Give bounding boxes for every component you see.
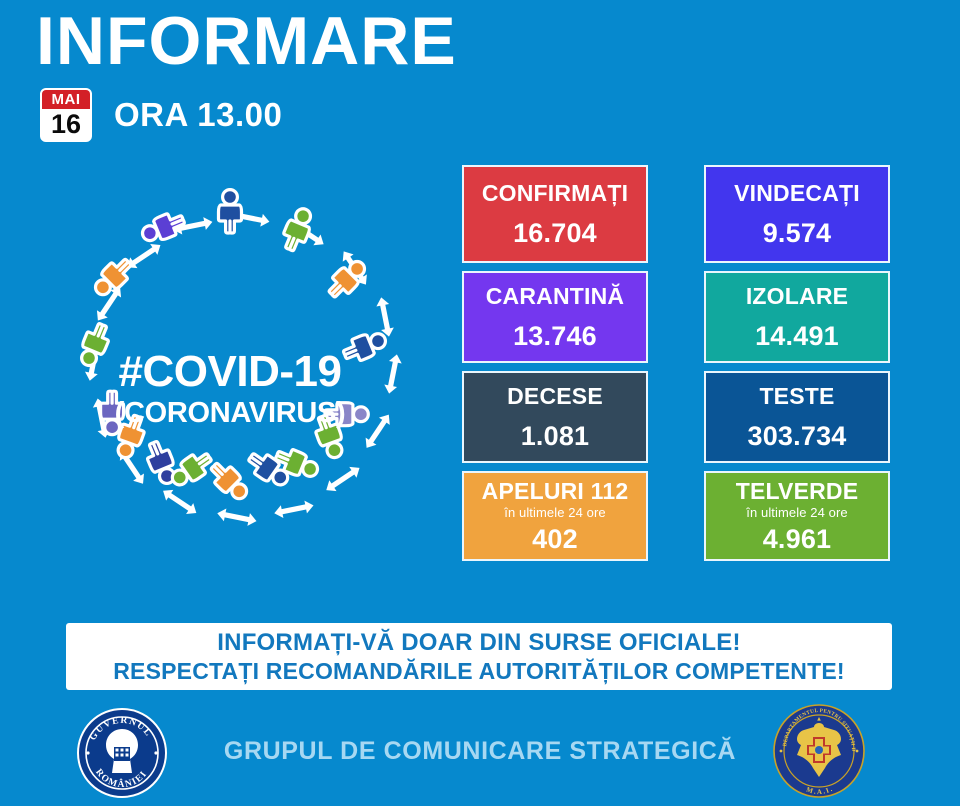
stat-value: 14.491	[755, 320, 839, 352]
stat-value: 303.734	[748, 420, 847, 452]
stat-value: 13.746	[513, 320, 597, 352]
stat-card-carantina[interactable]: CARANTINĂ 13.746	[462, 271, 648, 363]
stat-note: în ultimele 24 ore	[746, 505, 848, 521]
stat-value: 1.081	[521, 420, 590, 452]
stat-card-confirmati[interactable]: CONFIRMAȚI 16.704	[462, 165, 648, 263]
stat-label: IZOLARE	[746, 283, 848, 310]
stat-value: 16.704	[513, 217, 597, 249]
circle-arrows	[83, 208, 403, 528]
stat-card-apeluri-112[interactable]: APELURI 112 în ultimele 24 ore 402	[462, 471, 648, 561]
stat-label: APELURI 112	[482, 478, 629, 505]
stat-value: 4.961	[763, 523, 832, 555]
dsu-mai-logo: DEPARTAMENTUL PENTRU SITUAȚII DE URGENȚĂ…	[772, 703, 866, 799]
stat-note: în ultimele 24 ore	[504, 505, 606, 521]
stat-value: 9.574	[763, 217, 832, 249]
stat-label: VINDECAȚI	[734, 180, 860, 207]
informare-poster: INFORMARE MAI 16 ORA 13.00	[0, 0, 960, 806]
advisory-line-1: INFORMAȚI-VĂ DOAR DIN SURSE OFICIALE!	[217, 628, 740, 657]
stats-grid: CONFIRMAȚI 16.704 VINDECAȚI 9.574 CARANT…	[462, 165, 890, 561]
stat-label: TESTE	[759, 383, 834, 410]
stat-label: DECESE	[507, 383, 603, 410]
stat-card-decese[interactable]: DECESE 1.081	[462, 371, 648, 463]
stat-card-telverde[interactable]: TELVERDE în ultimele 24 ore 4.961	[704, 471, 890, 561]
advisory-banner: INFORMAȚI-VĂ DOAR DIN SURSE OFICIALE! RE…	[66, 623, 892, 690]
hour-label: ORA 13.00	[114, 96, 282, 134]
stat-card-teste[interactable]: TESTE 303.734	[704, 371, 890, 463]
covid-people-circle: #COVID-19 (CORONAVIRUS)	[30, 188, 430, 592]
stat-label: CARANTINĂ	[486, 283, 625, 310]
calendar-month: MAI	[42, 90, 90, 109]
stat-label: CONFIRMAȚI	[482, 180, 628, 207]
page-title: INFORMARE	[36, 6, 457, 77]
people-circle-svg	[30, 188, 430, 592]
calendar-icon: MAI 16	[40, 88, 92, 142]
stat-value: 402	[532, 523, 578, 555]
date-row: MAI 16 ORA 13.00	[40, 88, 282, 142]
stat-label: TELVERDE	[736, 478, 859, 505]
advisory-line-2: RESPECTAȚI RECOMANDĂRILE AUTORITĂȚILOR C…	[113, 657, 845, 685]
stat-card-vindecati[interactable]: VINDECAȚI 9.574	[704, 165, 890, 263]
stat-card-izolare[interactable]: IZOLARE 14.491	[704, 271, 890, 363]
calendar-day: 16	[42, 109, 90, 140]
